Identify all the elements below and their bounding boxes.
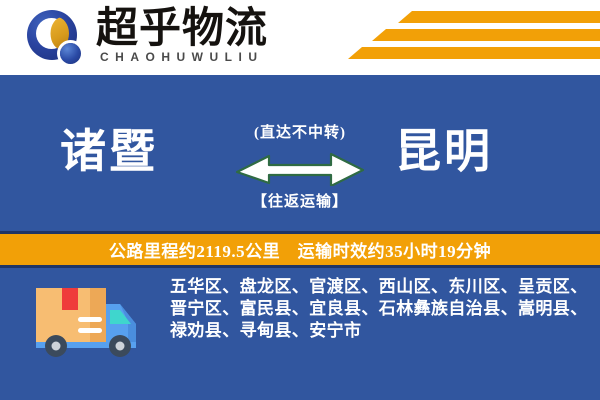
round-trip-note: 【往返运输】 — [0, 190, 600, 211]
speed-stripe-middle — [372, 29, 600, 41]
logistics-route-banner: 超乎物流 CHAOHUWULIU 诸暨 昆明 (直达不中转) 【往返运输】 公路… — [0, 0, 600, 400]
delivery-truck-icon — [28, 280, 146, 360]
brand-name-chinese: 超乎物流 — [96, 6, 268, 52]
chaohu-logistics-logo-icon — [27, 10, 85, 68]
district-line: 晋宁区、富民县、宜良县、石林彝族自治县、嵩明县、 — [170, 298, 588, 320]
banner-header: 超乎物流 CHAOHUWULIU — [0, 0, 600, 75]
route-info-bar: 公路里程约2119.5公里 运输时效约35小时19分钟 — [0, 234, 600, 265]
brand-name-pinyin: CHAOHUWULIU — [100, 50, 264, 64]
bidirectional-arrow-icon — [235, 146, 365, 186]
direct-route-note: (直达不中转) — [0, 121, 600, 142]
logo-dot-shape — [60, 43, 81, 64]
route-info-text: 公路里程约2119.5公里 运输时效约35小时19分钟 — [109, 237, 491, 262]
speed-stripes-icon — [398, 11, 600, 23]
district-line: 五华区、盘龙区、官渡区、西山区、东川区、呈贡区、 — [170, 276, 588, 298]
district-line: 禄劝县、寻甸县、安宁市 — [170, 320, 588, 342]
speed-stripe-bottom — [348, 47, 600, 59]
covered-districts-list: 五华区、盘龙区、官渡区、西山区、东川区、呈贡区、 晋宁区、富民县、宜良县、石林彝… — [170, 276, 588, 342]
coverage-panel: 五华区、盘龙区、官渡区、西山区、东川区、呈贡区、 晋宁区、富民县、宜良县、石林彝… — [0, 268, 600, 400]
